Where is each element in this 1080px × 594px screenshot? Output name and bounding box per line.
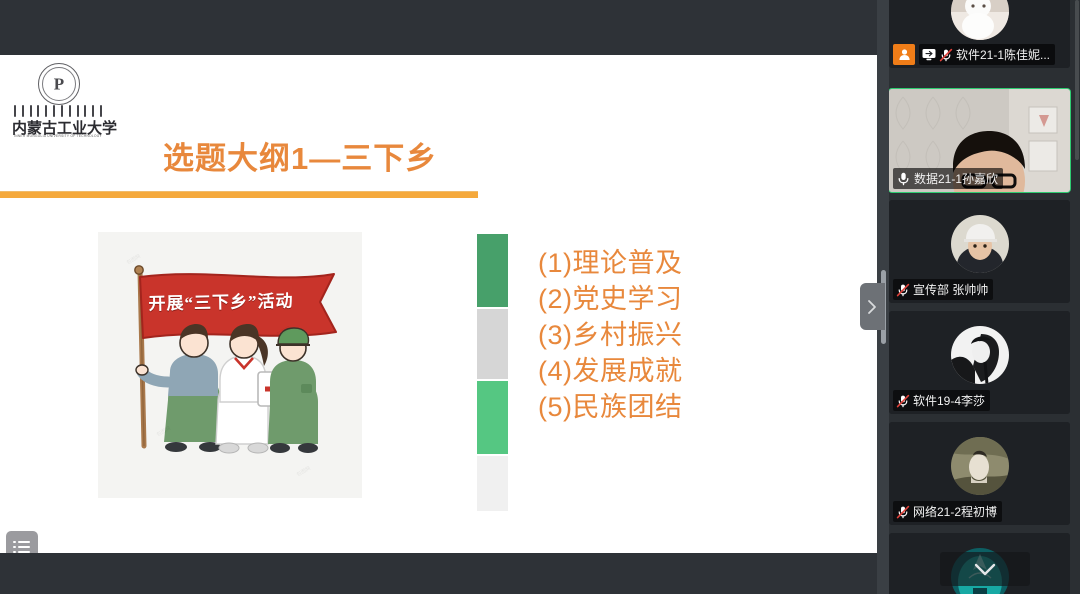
mic-muted-icon (896, 283, 910, 297)
participant-name-bar: 宣传部 张帅帅 (893, 279, 993, 300)
mic-muted-icon (939, 48, 953, 62)
seal-mark: P (54, 76, 64, 93)
participant-name: 软件19-4李莎 (913, 392, 985, 409)
collapse-panel-handle[interactable] (860, 283, 885, 330)
participant-name-bar: 网络21-2程初博 (893, 501, 1002, 522)
slide-list-view-button[interactable] (6, 531, 38, 553)
three-down-countryside-illustration (98, 232, 362, 498)
participant-tile[interactable]: 网络21-2程初博 (889, 422, 1070, 525)
host-badge (893, 44, 915, 65)
title-divider (0, 191, 478, 198)
shared-screen-stage[interactable]: P 内蒙古工业大学 INNER MONGOLIA UNIVERSITY OF T… (0, 0, 877, 594)
participant-rail[interactable]: 软件21-1陈佳妮... (889, 0, 1080, 594)
avatar (951, 326, 1009, 384)
slide-bullet-list: (1)理论普及 (2)党史学习 (3)乡村振兴 (4)发展成就 (5)民族团结 (538, 245, 683, 425)
chevron-down-icon (974, 563, 996, 576)
bullet-item: (3)乡村振兴 (538, 317, 683, 353)
bw-portrait-photo-avatar-icon (951, 326, 1009, 384)
color-bar-segment (477, 456, 508, 511)
university-seal-icon: P (38, 63, 80, 105)
mic-muted-icon (896, 505, 910, 519)
color-bar-segment (477, 234, 508, 307)
participant-name: 软件21-1陈佳妮... (956, 46, 1050, 63)
participant-tile[interactable]: 软件21-1陈佳妮... (889, 0, 1070, 68)
bullet-item: (1)理论普及 (538, 245, 683, 281)
outdoor-photo-avatar-icon (951, 437, 1009, 495)
person-cap-photo-avatar-icon (951, 215, 1009, 273)
participant-rail-scrollbar[interactable] (1075, 0, 1079, 160)
avatar (951, 215, 1009, 273)
color-bar-segment (477, 381, 508, 454)
participant-name: 网络21-2程初博 (913, 503, 997, 520)
participant-name-bar: 软件21-1陈佳妮... (919, 44, 1055, 65)
scroll-down-button[interactable] (940, 552, 1030, 586)
slide-illustration: 开展“三下乡”活动 包图网 包图网 包图网 包图网 (98, 232, 362, 498)
participant-tile[interactable]: 宣传部 张帅帅 (889, 200, 1070, 303)
slide-color-bar (477, 234, 508, 511)
mic-muted-icon (896, 394, 910, 408)
university-logo: P 内蒙古工业大学 INNER MONGOLIA UNIVERSITY OF T… (12, 63, 104, 141)
university-english-name: INNER MONGOLIA UNIVERSITY OF TECHNOLOGY (12, 134, 104, 138)
mic-active-icon (896, 171, 911, 186)
bullet-item: (4)发展成就 (538, 353, 683, 389)
participant-name: 宣传部 张帅帅 (913, 281, 988, 298)
participant-name: 数据21-1孙嘉欣 (914, 170, 998, 187)
illustration-banner-text: 开展“三下乡”活动 (132, 286, 310, 315)
chevron-right-icon (867, 299, 878, 315)
bullet-item: (5)民族团结 (538, 389, 683, 425)
participant-name-bar: 软件19-4李莎 (893, 390, 990, 411)
screen-share-icon (922, 48, 936, 61)
participant-tile[interactable]: 软件19-4李莎 (889, 311, 1070, 414)
list-view-icon (13, 541, 31, 554)
slide-title: 选题大纲1—三下乡 (163, 133, 437, 178)
color-bar-segment (477, 309, 508, 379)
presentation-slide[interactable]: P 内蒙古工业大学 INNER MONGOLIA UNIVERSITY OF T… (0, 55, 877, 553)
participant-tile[interactable]: 数据21-1孙嘉欣 (889, 89, 1070, 192)
avatar (951, 437, 1009, 495)
participant-name-bar: 数据21-1孙嘉欣 (893, 168, 1003, 189)
meeting-screen: P 内蒙古工业大学 INNER MONGOLIA UNIVERSITY OF T… (0, 0, 1080, 594)
bullet-item: (2)党史学习 (538, 281, 683, 317)
host-person-icon (898, 48, 911, 61)
